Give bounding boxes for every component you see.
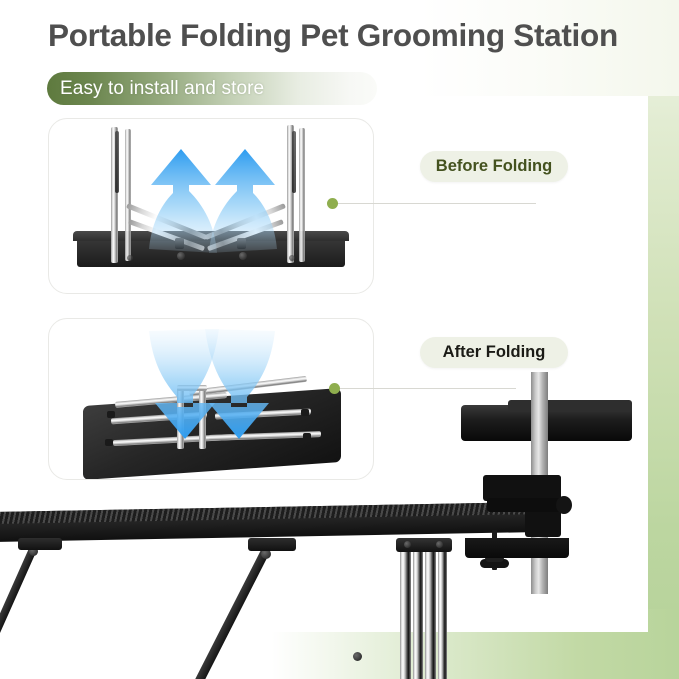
c-clamp-neck (487, 498, 561, 512)
leg-right-shadow (292, 131, 296, 193)
foot-bolt-right (289, 255, 295, 261)
product-image-unfolded (49, 119, 373, 293)
leg-cap-right-a (301, 409, 309, 416)
product-image-folded (49, 319, 373, 479)
panel-before-folding (48, 118, 374, 294)
table-leg-chrome-a (400, 548, 411, 679)
brace-bracket-middle (248, 538, 296, 551)
subtitle-badge: Easy to install and store (47, 72, 377, 105)
leg-bolt-b (436, 541, 443, 548)
leg-left-inner (125, 129, 131, 261)
page-title: Portable Folding Pet Grooming Station (48, 17, 618, 54)
foot-bolt-left (127, 255, 133, 261)
leg-cap-left-b (105, 439, 113, 446)
table-leg-chrome-c (425, 548, 436, 679)
brace-bracket-left (18, 538, 62, 550)
subtitle-badge-label: Easy to install and store (60, 78, 264, 100)
arrow-up-icon (201, 145, 281, 255)
leader-line-before (336, 203, 536, 204)
infographic-canvas: Portable Folding Pet Grooming Station Ea… (0, 0, 679, 679)
arrow-down-icon (199, 325, 279, 443)
connector-dot-icon (329, 383, 340, 394)
table-leg-chrome-b (413, 548, 423, 679)
panel-after-folding (48, 318, 374, 480)
connector-dot-icon (327, 198, 338, 209)
callout-before-label: Before Folding (436, 157, 552, 176)
leg-left-shadow (115, 131, 119, 193)
background-accent-right (645, 0, 679, 679)
c-clamp-lower-jaw (465, 538, 569, 558)
leg-bolt-a (404, 541, 411, 548)
c-clamp-pivot (556, 496, 572, 514)
callout-after-folding: After Folding (420, 337, 568, 368)
leader-line-after (338, 388, 516, 389)
leg-cap-right-b (303, 433, 311, 440)
callout-before-folding: Before Folding (420, 151, 568, 182)
leg-right-inner (299, 128, 305, 262)
leg-cap-left-a (107, 411, 115, 418)
brace-bolt-middle-lower (353, 652, 362, 661)
table-leg-chrome-d (438, 548, 447, 679)
callout-after-label: After Folding (443, 343, 546, 362)
arm-bracket-top-lip (508, 400, 632, 412)
